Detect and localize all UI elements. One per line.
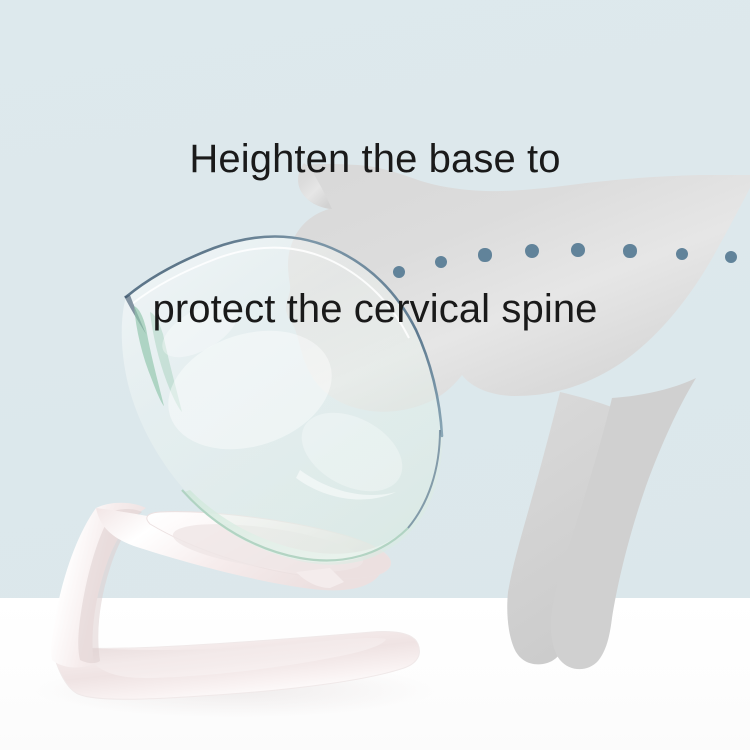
- page-title: Heighten the base to protect the cervica…: [0, 34, 750, 434]
- spine-dot-8: [725, 251, 737, 263]
- headline-line-1: Heighten the base to: [0, 134, 750, 184]
- spine-dot-3: [478, 248, 491, 261]
- spine-dot-1: [393, 266, 405, 278]
- spine-dot-6: [623, 244, 636, 257]
- spine-dot-5: [571, 243, 585, 257]
- headline-line-2: protect the cervical spine: [0, 284, 750, 334]
- product-banner: Heighten the base to protect the cervica…: [0, 0, 750, 750]
- spine-dot-4: [525, 244, 539, 258]
